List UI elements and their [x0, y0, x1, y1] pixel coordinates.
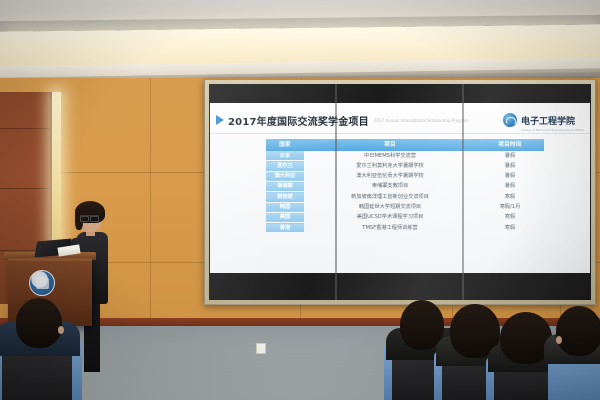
cell-project: 美国UCSD学术课程学习项目 — [304, 212, 476, 222]
cell-time: 暑假 — [476, 182, 544, 192]
wall-outlet — [256, 343, 266, 354]
cell-project: TMSF香港工程师训练营 — [304, 223, 476, 233]
column-header-project: 项目 — [304, 139, 476, 151]
cell-country: 韩国 — [266, 202, 304, 212]
table-body: 日本中日MEMS科学交流营暑假爱尔兰爱尔兰利莫利克大学暑期学校暑假澳大利亚澳大利… — [266, 151, 544, 233]
cell-time: 寒假 — [476, 223, 544, 233]
logo-text-block: 电子工程学院 School of Electronic Engineering … — [521, 109, 584, 132]
slide-subtitle: 2017 Annual International Scholarship Pr… — [374, 118, 469, 123]
cell-country: 香港 — [266, 223, 304, 233]
logo-subtitle: School of Electronic Engineering of UEST… — [521, 128, 584, 132]
table-row: 爱尔兰爱尔兰利莫利克大学暑期学校暑假 — [266, 161, 544, 171]
slide: 2017年度国际交流奖学金项目 2017 Annual Internationa… — [210, 103, 590, 273]
cell-project: 爱尔兰利莫利克大学暑期学校 — [304, 161, 476, 171]
table-row: 日本中日MEMS科学交流营暑假 — [266, 151, 544, 161]
column-header-country: 国家 — [266, 139, 304, 151]
chair-back — [2, 350, 72, 400]
slide-header: 2017年度国际交流奖学金项目 2017 Annual Internationa… — [210, 107, 590, 133]
audience-ear — [556, 336, 562, 344]
logo-title: 电子工程学院 — [521, 117, 575, 127]
table-row: 美国美国UCSD学术课程学习项目寒假 — [266, 212, 544, 222]
table-row: 澳大利亚澳大利亚伍伦贡大学暑期学校暑假 — [266, 171, 544, 181]
table-header-row: 国家 项目 项目时间 — [266, 139, 544, 151]
institution-logo: 电子工程学院 School of Electronic Engineering … — [503, 109, 584, 132]
cell-project: 韩国延世大学短期交流项目 — [304, 202, 476, 212]
column-header-time: 项目时间 — [476, 139, 544, 151]
cell-project: 澳大利亚伍伦贡大学暑期学校 — [304, 171, 476, 181]
cell-project: 柬埔寨支教项目 — [304, 182, 476, 192]
audience-head — [556, 306, 600, 356]
table-row: 韩国韩国延世大学短期交流项目寒假/1月 — [266, 202, 544, 212]
cell-project: 新加坡南洋理工创新创业交流项目 — [304, 192, 476, 202]
cell-country: 爱尔兰 — [266, 161, 304, 171]
presentation-room-photo: 2017年度国际交流奖学金项目 2017 Annual Internationa… — [0, 0, 600, 400]
logo-emblem-icon — [503, 113, 517, 127]
audience-ear — [58, 326, 64, 334]
cell-country: 新加坡 — [266, 192, 304, 202]
cell-country: 柬埔寨 — [266, 182, 304, 192]
cell-time: 暑假 — [476, 151, 544, 161]
table-row: 新加坡新加坡南洋理工创新创业交流项目寒假 — [266, 192, 544, 202]
triangle-bullet-icon — [216, 115, 224, 125]
cell-country: 美国 — [266, 212, 304, 222]
audience-head — [16, 298, 62, 348]
cell-project: 中日MEMS科学交流营 — [304, 151, 476, 161]
cell-country: 日本 — [266, 151, 304, 161]
wall-seam — [150, 78, 151, 328]
slide-title: 2017年度国际交流奖学金项目 — [228, 113, 369, 128]
table-row: 柬埔寨柬埔寨支教项目暑假 — [266, 182, 544, 192]
cell-time: 暑假 — [476, 171, 544, 181]
cell-time: 寒假 — [476, 212, 544, 222]
speaker-glasses — [80, 215, 99, 219]
title-divider — [210, 133, 590, 134]
video-wall-seam — [462, 84, 464, 300]
video-wall-seam — [335, 84, 337, 300]
cell-time: 寒假 — [476, 192, 544, 202]
scholarship-table: 国家 项目 项目时间 日本中日MEMS科学交流营暑假爱尔兰爱尔兰利莫利克大学暑期… — [266, 139, 544, 233]
podium-crest-icon — [29, 270, 55, 296]
cell-country: 澳大利亚 — [266, 171, 304, 181]
cell-time: 寒假/1月 — [476, 202, 544, 212]
cell-time: 暑假 — [476, 161, 544, 171]
table-row: 香港TMSF香港工程师训练营寒假 — [266, 223, 544, 233]
